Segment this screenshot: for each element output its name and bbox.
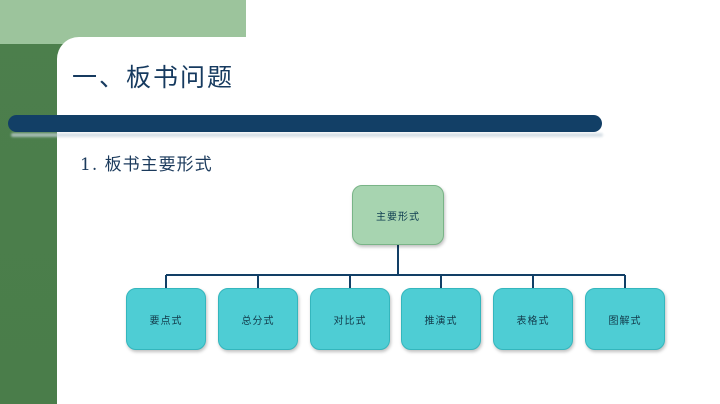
diagram-node-leaf-1-label: 要点式: [150, 312, 183, 327]
diagram-node-leaf-2: 总分式: [218, 288, 298, 350]
diagram-node-leaf-2-label: 总分式: [242, 312, 275, 327]
diagram-node-leaf-3-label: 对比式: [334, 312, 367, 327]
diagram-node-leaf-4: 推演式: [401, 288, 481, 350]
left-green-band: [0, 0, 64, 404]
diagram-node-leaf-6-label: 图解式: [609, 312, 642, 327]
diagram-node-leaf-5-label: 表格式: [517, 312, 550, 327]
diagram-node-leaf-3: 对比式: [310, 288, 390, 350]
diagram-node-leaf-1: 要点式: [126, 288, 206, 350]
section-subtitle: 1. 板书主要形式: [80, 150, 213, 175]
diagram-node-leaf-5: 表格式: [493, 288, 573, 350]
diagram-node-root-label: 主要形式: [376, 208, 420, 223]
title-bar-shadow: [11, 133, 603, 137]
diagram-node-root: 主要形式: [352, 185, 444, 245]
diagram-node-leaf-6: 图解式: [585, 288, 665, 350]
slide-canvas: 一、板书问题 1. 板书主要形式 主要形式 要点式 总分式 对比式 推演式 表格…: [0, 0, 720, 404]
page-title: 一、板书问题: [72, 58, 234, 94]
title-underline-bar: [8, 115, 602, 132]
diagram-node-leaf-4-label: 推演式: [425, 312, 458, 327]
